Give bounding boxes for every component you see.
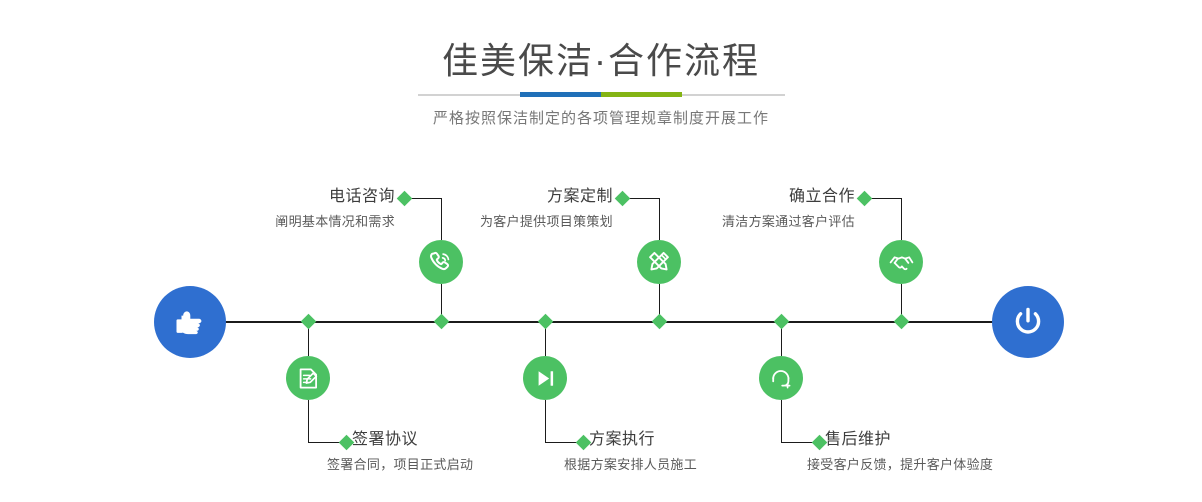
step-node-4[interactable]: [523, 356, 567, 400]
step-node-3[interactable]: [637, 240, 681, 284]
step-5-label: 售后维护 接受客户反馈，提升客户体验度: [825, 432, 1115, 471]
step-3-label: 方案定制 为客户提供项目策策划: [358, 189, 613, 228]
step-6-connector-vertical-up: [901, 198, 902, 240]
step-node-1[interactable]: [419, 240, 463, 284]
page-subtitle: 严格按照保洁制定的各项管理规章制度开展工作: [0, 107, 1202, 128]
play-forward-icon: [533, 366, 558, 391]
step-node-5[interactable]: [759, 356, 803, 400]
page-title: 佳美保洁·合作流程: [0, 43, 1202, 79]
step-5-title: 售后维护: [825, 432, 1115, 448]
title-divider-blue-segment: [520, 92, 601, 97]
handshake-icon: [888, 249, 915, 276]
step-1-label: 电话咨询 阐明基本情况和需求: [140, 189, 395, 228]
step-6-label-marker: [857, 191, 873, 207]
step-3-axis-marker: [652, 314, 668, 330]
step-1-desc: 阐明基本情况和需求: [140, 215, 395, 228]
headset-support-icon: [768, 365, 794, 391]
document-edit-icon: [296, 366, 321, 391]
step-4-title: 方案执行: [589, 432, 859, 448]
step-1-axis-marker: [434, 314, 450, 330]
pencil-ruler-icon: [646, 249, 672, 275]
timeline-start-node[interactable]: [154, 286, 226, 358]
step-3-title: 方案定制: [358, 189, 613, 205]
step-node-2[interactable]: [286, 356, 330, 400]
step-1-title: 电话咨询: [140, 189, 395, 205]
step-node-6[interactable]: [879, 240, 923, 284]
step-6-axis-marker: [894, 314, 910, 330]
step-2-connector-vertical-down: [308, 400, 309, 442]
step-2-title: 签署协议: [352, 432, 622, 448]
step-2-axis-marker: [301, 314, 317, 330]
pointing-hand-icon: [171, 303, 209, 341]
step-4-axis-marker: [538, 314, 554, 330]
step-5-axis-marker: [774, 314, 790, 330]
title-divider-green-segment: [601, 92, 682, 97]
step-6-title: 确立合作: [595, 189, 855, 205]
timeline-end-node[interactable]: [992, 286, 1064, 358]
power-icon: [1008, 302, 1048, 342]
step-5-desc: 接受客户反馈，提升客户体验度: [807, 458, 1115, 471]
step-6-label: 确立合作 清洁方案通过客户评估: [595, 189, 855, 228]
flow-diagram-canvas: 佳美保洁·合作流程 严格按照保洁制定的各项管理规章制度开展工作: [0, 0, 1202, 502]
step-3-desc: 为客户提供项目策策划: [358, 215, 613, 228]
step-6-desc: 清洁方案通过客户评估: [595, 215, 855, 228]
phone-call-icon: [428, 249, 454, 275]
